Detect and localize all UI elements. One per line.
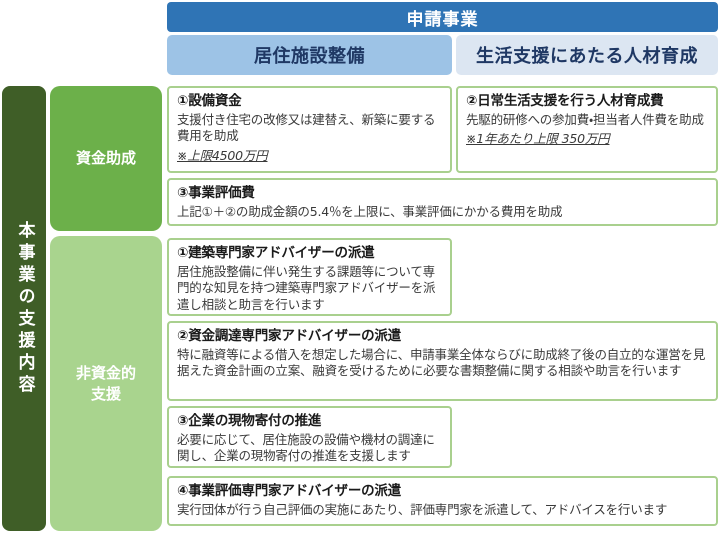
card-architect-advisor-title: ①建築専門家アドバイザーの派遣 bbox=[177, 245, 442, 263]
card-architect-advisor: ①建築専門家アドバイザーの派遣 居住施設整備に伴い発生する課題等について専門的な… bbox=[167, 238, 452, 316]
support-content-diagram: 申請事業 居住施設整備 生活支援にあたる人材育成 本事業の支援内容 資金助成 非… bbox=[0, 0, 720, 533]
category-non-funding: 非資金的支援 bbox=[50, 236, 162, 531]
card-in-kind-donation: ③企業の現物寄付の推進 必要に応じて、居住施設の設備や機材の調達に関し、企業の現… bbox=[167, 406, 452, 468]
card-evaluation-cost-title: ③事業評価費 bbox=[177, 185, 708, 203]
card-evaluation-advisor: ④事業評価専門家アドバイザーの派遣 実行団体が行う自己評価の実施にあたり、評価専… bbox=[167, 476, 718, 526]
card-evaluation-advisor-title: ④事業評価専門家アドバイザーの派遣 bbox=[177, 483, 708, 501]
card-architect-advisor-body: 居住施設整備に伴い発生する課題等について専門的な知見を持つ建築専門家アドバイザー… bbox=[177, 264, 442, 314]
card-facility-funds-body: 支援付き住宅の改修又は建替え、新築に要する費用を助成 bbox=[177, 112, 442, 145]
category-funding-label: 資金助成 bbox=[76, 148, 136, 168]
header-column-human-resources-label: 生活支援にあたる人材育成 bbox=[476, 42, 698, 68]
card-facility-funds: ①設備資金 支援付き住宅の改修又は建替え、新築に要する費用を助成 ※上限4500… bbox=[167, 86, 452, 173]
header-column-facility-label: 居住施設整備 bbox=[254, 42, 365, 68]
category-non-funding-label: 非資金的支援 bbox=[76, 363, 136, 404]
header-column-human-resources: 生活支援にあたる人材育成 bbox=[456, 35, 718, 75]
card-evaluation-advisor-body: 実行団体が行う自己評価の実施にあたり、評価専門家を派遣して、アドバイスを行います bbox=[177, 502, 708, 519]
header-main-title: 申請事業 bbox=[167, 2, 718, 32]
card-finance-advisor-title: ②資金調達専門家アドバイザーの派遣 bbox=[177, 328, 708, 346]
card-finance-advisor: ②資金調達専門家アドバイザーの派遣 特に融資等による借入を想定した場合に、申請事… bbox=[167, 321, 718, 401]
header-column-facility: 居住施設整備 bbox=[167, 35, 452, 75]
card-human-resources-funds-body: 先駆的研修への参加費・担当者人件費を助成 bbox=[466, 112, 708, 129]
card-facility-funds-title: ①設備資金 bbox=[177, 93, 442, 111]
card-finance-advisor-body: 特に融資等による借入を想定した場合に、申請事業全体ならびに助成終了後の自立的な運… bbox=[177, 347, 708, 380]
vertical-title-bar: 本事業の支援内容 bbox=[2, 86, 46, 531]
card-human-resources-funds-note: ※1年あたり上限 350万円 bbox=[466, 131, 609, 148]
category-funding: 資金助成 bbox=[50, 86, 162, 231]
card-facility-funds-note: ※上限4500万円 bbox=[177, 148, 268, 165]
card-in-kind-donation-body: 必要に応じて、居住施設の設備や機材の調達に関し、企業の現物寄付の推進を支援します bbox=[177, 432, 442, 465]
header-main-title-label: 申請事業 bbox=[407, 5, 479, 30]
card-evaluation-cost-body: 上記①＋②の助成金額の5.4％を上限に、事業評価にかかる費用を助成 bbox=[177, 204, 708, 221]
card-human-resources-funds-title: ②日常生活支援を行う人材育成費 bbox=[466, 93, 708, 111]
vertical-title-label: 本事業の支援内容 bbox=[16, 221, 33, 397]
card-in-kind-donation-title: ③企業の現物寄付の推進 bbox=[177, 413, 442, 431]
card-evaluation-cost: ③事業評価費 上記①＋②の助成金額の5.4％を上限に、事業評価にかかる費用を助成 bbox=[167, 178, 718, 226]
card-human-resources-funds: ②日常生活支援を行う人材育成費 先駆的研修への参加費・担当者人件費を助成 ※1年… bbox=[456, 86, 718, 173]
